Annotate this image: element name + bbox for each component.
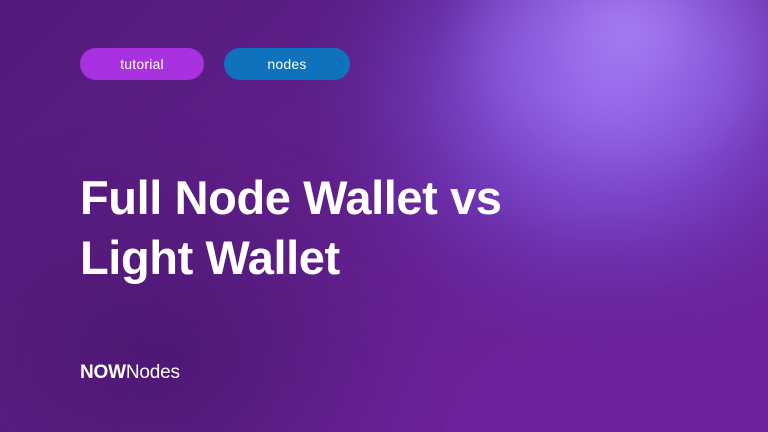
logo-text-nodes: Nodes bbox=[126, 363, 180, 382]
nownodes-logo[interactable]: NOW Nodes bbox=[80, 363, 180, 382]
tag-list: tutorial nodes bbox=[80, 48, 350, 80]
logo-text-now: NOW bbox=[80, 363, 126, 382]
page-title: Full Node Wallet vs Light Wallet bbox=[80, 168, 680, 288]
article-hero-banner: tutorial nodes Full Node Wallet vs Light… bbox=[0, 0, 768, 432]
tag-tutorial[interactable]: tutorial bbox=[80, 48, 204, 80]
banner-content: tutorial nodes Full Node Wallet vs Light… bbox=[0, 0, 768, 432]
tag-nodes[interactable]: nodes bbox=[224, 48, 350, 80]
page-title-line-2: Light Wallet bbox=[80, 228, 680, 288]
page-title-line-1: Full Node Wallet vs bbox=[80, 168, 680, 228]
